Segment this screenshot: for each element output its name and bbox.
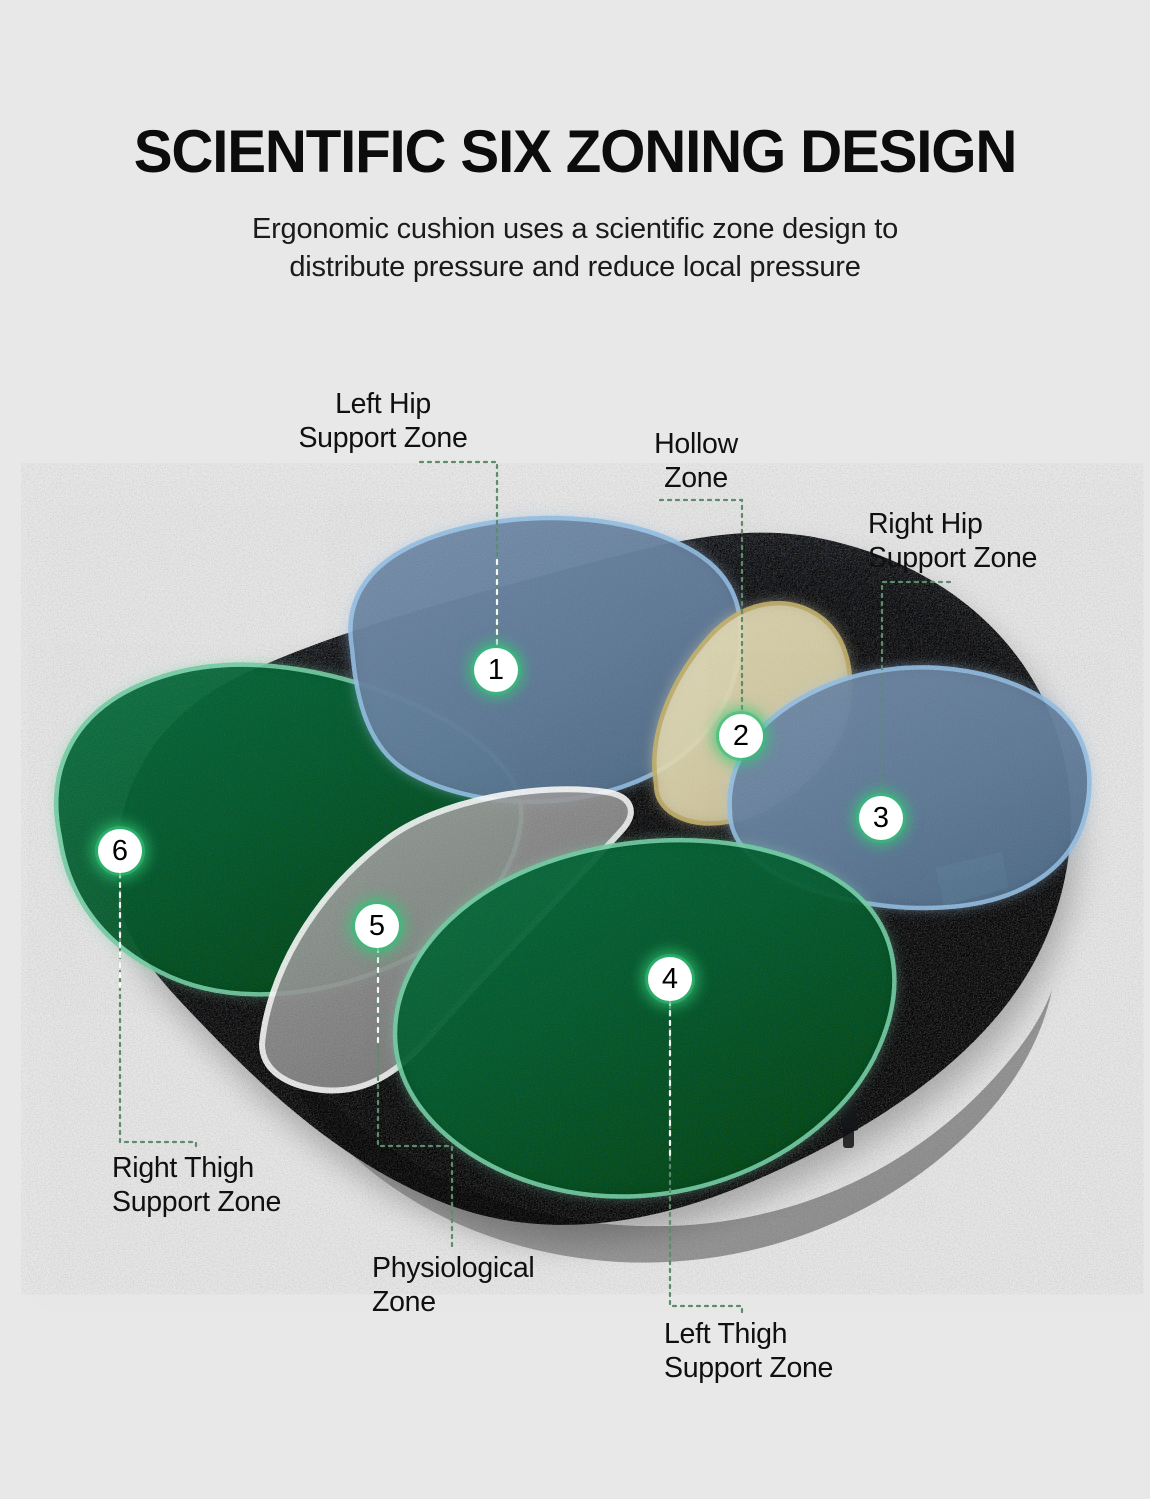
label-left-hip-support-zone: Left Hip Support Zone: [258, 388, 508, 455]
zone-badge-4[interactable]: 4: [648, 957, 692, 1001]
label-left-thigh-support-zone: Left Thigh Support Zone: [664, 1318, 914, 1385]
zone-badge-6[interactable]: 6: [98, 829, 142, 873]
zone-badge-5[interactable]: 5: [355, 904, 399, 948]
label-physiological-zone: Physiological Zone: [372, 1252, 622, 1319]
label-right-thigh-support-zone: Right Thigh Support Zone: [112, 1152, 362, 1219]
label-hollow-zone: Hollow Zone: [600, 428, 792, 495]
zone-badge-3[interactable]: 3: [859, 796, 903, 840]
zone-badge-2[interactable]: 2: [719, 714, 763, 758]
label-right-hip-support-zone: Right Hip Support Zone: [868, 508, 1110, 575]
zone-badge-1[interactable]: 1: [474, 648, 518, 692]
